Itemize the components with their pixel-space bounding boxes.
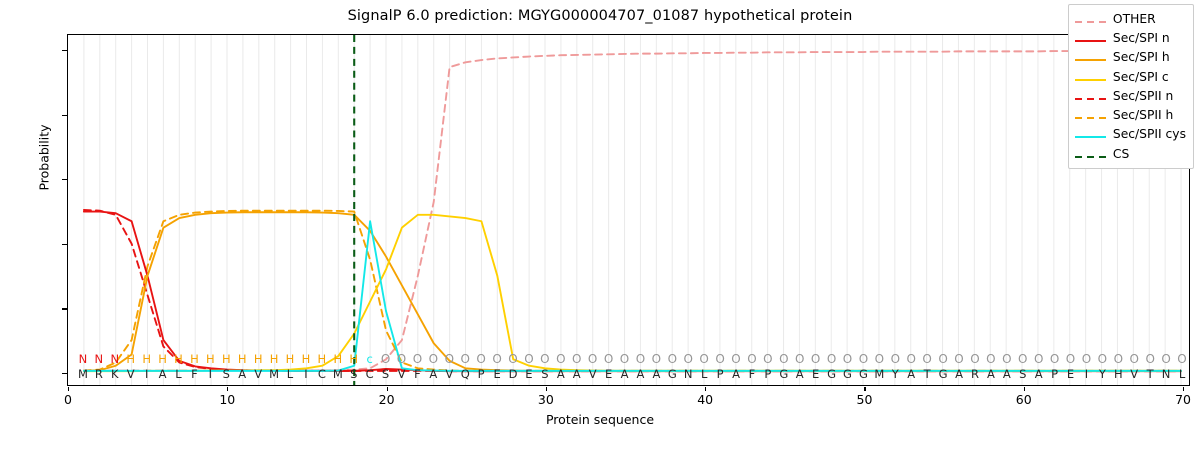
region-label-cell: O — [938, 352, 947, 367]
amino-acid-cell: A — [907, 367, 915, 382]
region-label-cell: O — [588, 352, 597, 367]
amino-acid-cell: Y — [1099, 367, 1106, 382]
amino-acid-cell: V — [445, 367, 453, 382]
legend-label: Sec/SPI n — [1113, 31, 1170, 45]
legend-item: OTHER — [1075, 9, 1186, 28]
region-label-cell: H — [126, 352, 135, 367]
amino-acid-cell: S — [350, 367, 357, 382]
region-label-cell: O — [779, 352, 788, 367]
legend-swatch — [1075, 13, 1106, 25]
region-label-cell: O — [668, 352, 677, 367]
series-sec-spii-n — [84, 210, 1181, 371]
region-label-cell: O — [604, 352, 613, 367]
region-label-cell: O — [970, 352, 979, 367]
amino-acid-cell: V — [127, 367, 135, 382]
legend-swatch — [1075, 90, 1106, 102]
amino-acid-cell: P — [717, 367, 724, 382]
amino-acid-cell: N — [684, 367, 693, 382]
amino-acid-cell: E — [812, 367, 819, 382]
x-axis-tick-label: 0 — [64, 392, 72, 407]
amino-acid-cell: E — [525, 367, 532, 382]
amino-acid-cell: G — [779, 367, 788, 382]
x-axis-tick-mark — [68, 387, 69, 391]
amino-acid-cell: F — [191, 367, 198, 382]
amino-acid-cell: A — [238, 367, 246, 382]
region-label-cell: H — [286, 352, 295, 367]
region-label-cell: c — [366, 352, 372, 367]
region-label-cell: O — [795, 352, 804, 367]
amino-acid-cell: M — [874, 367, 884, 382]
region-label-cell: H — [318, 352, 327, 367]
region-label-cell: O — [683, 352, 692, 367]
region-label-cell: O — [907, 352, 916, 367]
region-label-cell: H — [158, 352, 167, 367]
series-sec-spii-h — [84, 211, 1181, 371]
region-label-cell: O — [986, 352, 995, 367]
region-label-cell: O — [540, 352, 549, 367]
amino-acid-cell: L — [287, 367, 293, 382]
region-label-cell: O — [492, 352, 501, 367]
region-label-cell: O — [843, 352, 852, 367]
region-label-cell: O — [859, 352, 868, 367]
region-label-cell: O — [954, 352, 963, 367]
amino-acid-cell: I — [1085, 367, 1088, 382]
region-label-cell: O — [1050, 352, 1059, 367]
region-label-cell: O — [1130, 352, 1139, 367]
region-label-cell: O — [1066, 352, 1075, 367]
region-label-cell: O — [620, 352, 629, 367]
x-axis-tick-mark — [1183, 387, 1184, 391]
amino-acid-cell: P — [764, 367, 771, 382]
region-label-cell: H — [222, 352, 231, 367]
amino-acid-cell: D — [509, 367, 518, 382]
amino-acid-cell: S — [541, 367, 548, 382]
x-axis-tick-mark — [705, 387, 706, 391]
region-label-cell: H — [142, 352, 151, 367]
series-lines — [68, 35, 1189, 385]
region-label-cell: O — [636, 352, 645, 367]
x-axis-tick-label: 30 — [538, 392, 554, 407]
amino-acid-cell: F — [414, 367, 421, 382]
region-label-cell: O — [699, 352, 708, 367]
plot-area: 010203040506070 — [67, 34, 1190, 386]
amino-acid-cell: A — [621, 367, 629, 382]
series-sec-spi-n — [84, 212, 1181, 372]
amino-acid-cell: E — [1067, 367, 1074, 382]
region-label-cell: O — [922, 352, 931, 367]
region-label-cell: O — [1114, 352, 1123, 367]
legend-label: Sec/SPII cys — [1113, 127, 1186, 141]
region-label-cell: O — [652, 352, 661, 367]
legend-swatch — [1075, 128, 1106, 140]
legend-swatch — [1075, 51, 1106, 63]
region-label-cell: O — [763, 352, 772, 367]
y-axis-label: Probability — [37, 98, 52, 218]
amino-acid-cell: M — [333, 367, 343, 382]
amino-acid-cell: M — [269, 367, 279, 382]
legend-label: CS — [1113, 147, 1129, 161]
amino-acid-cell: A — [429, 367, 437, 382]
legend-swatch — [1075, 32, 1106, 44]
signalp-prediction-figure: SignalP 6.0 prediction: MGYG000004707_01… — [0, 0, 1200, 450]
legend-swatch — [1075, 109, 1106, 121]
amino-acid-cell: R — [971, 367, 979, 382]
amino-acid-cell: C — [318, 367, 326, 382]
region-label-cell: H — [254, 352, 263, 367]
amino-acid-cell: V — [254, 367, 262, 382]
amino-acid-cell: S — [1019, 367, 1026, 382]
amino-acid-cell: I — [145, 367, 148, 382]
amino-acid-cell: T — [924, 367, 931, 382]
region-label-cell: O — [413, 352, 422, 367]
amino-acid-cell: A — [1035, 367, 1043, 382]
x-axis-tick-label: 40 — [697, 392, 713, 407]
region-label-cell: O — [891, 352, 900, 367]
amino-acid-cell: L — [701, 367, 707, 382]
region-label-cell: O — [715, 352, 724, 367]
region-label-cell: O — [1034, 352, 1043, 367]
region-label-cell: O — [476, 352, 485, 367]
region-label-cell: O — [1177, 352, 1186, 367]
amino-acid-cell: A — [955, 367, 963, 382]
legend-item: CS — [1075, 144, 1186, 163]
amino-acid-cell: E — [493, 367, 500, 382]
region-label-cell: H — [238, 352, 247, 367]
x-axis-tick-label: 50 — [857, 392, 873, 407]
legend: OTHERSec/SPI nSec/SPI hSec/SPI cSec/SPII… — [1068, 4, 1194, 169]
region-label-cell: H — [349, 352, 358, 367]
amino-acid-cell: Y — [892, 367, 899, 382]
region-label-cell: O — [1145, 352, 1154, 367]
x-axis-tick-mark — [864, 387, 865, 391]
x-axis-tick-mark — [1024, 387, 1025, 391]
amino-acid-cell: A — [796, 367, 804, 382]
legend-swatch — [1075, 148, 1106, 160]
region-label-cell: O — [1161, 352, 1170, 367]
x-axis-tick-label: 10 — [219, 392, 235, 407]
series-sec-spi-h — [84, 212, 1181, 371]
amino-acid-cell: P — [478, 367, 485, 382]
region-label-cell: H — [174, 352, 183, 367]
amino-acid-cell: V — [398, 367, 406, 382]
region-label-cell: O — [1018, 352, 1027, 367]
region-label-cell: O — [747, 352, 756, 367]
region-label-cell: O — [397, 352, 406, 367]
region-label-cell: O — [811, 352, 820, 367]
amino-acid-cell: F — [749, 367, 756, 382]
region-label-cell: O — [827, 352, 836, 367]
region-label-cell: O — [572, 352, 581, 367]
region-label-cell: O — [1098, 352, 1107, 367]
region-label-cell: N — [110, 352, 119, 367]
x-axis-tick-label: 60 — [1016, 392, 1032, 407]
x-axis-tick-mark — [387, 387, 388, 391]
amino-acid-cell: S — [382, 367, 389, 382]
amino-acid-cell: C — [366, 367, 374, 382]
legend-item: Sec/SPII n — [1075, 86, 1186, 105]
amino-acid-cell: E — [605, 367, 612, 382]
amino-acid-cell: H — [1114, 367, 1123, 382]
amino-acid-cell: L — [1179, 367, 1185, 382]
region-label-cell: N — [79, 352, 88, 367]
amino-acid-cell: A — [637, 367, 645, 382]
region-annotation-row: NNNHHHHHHHHHHHHHHHcOOOOOOOOOOOOOOOOOOOOO… — [67, 352, 1190, 367]
amino-acid-cell: A — [652, 367, 660, 382]
amino-acid-cell: K — [111, 367, 119, 382]
x-axis-tick-label: 70 — [1175, 392, 1191, 407]
region-label-cell: O — [460, 352, 469, 367]
amino-acid-cell: A — [557, 367, 565, 382]
region-label-cell: H — [190, 352, 199, 367]
amino-acid-cell: T — [1147, 367, 1154, 382]
x-axis-tick-mark — [227, 387, 228, 391]
region-label-cell: N — [95, 352, 104, 367]
amino-acid-cell: V — [1130, 367, 1138, 382]
chart-title: SignalP 6.0 prediction: MGYG000004707_01… — [0, 8, 1200, 24]
legend-swatch — [1075, 71, 1106, 83]
amino-acid-cell: A — [159, 367, 167, 382]
series-sec-spii-cys — [84, 221, 1181, 371]
amino-acid-cell: G — [827, 367, 836, 382]
region-label-cell: O — [524, 352, 533, 367]
amino-acid-cell: G — [843, 367, 852, 382]
region-label-cell: O — [1002, 352, 1011, 367]
amino-acid-cell: M — [78, 367, 88, 382]
amino-acid-cell: R — [95, 367, 103, 382]
region-label-cell: O — [1082, 352, 1091, 367]
region-label-cell: O — [445, 352, 454, 367]
legend-label: OTHER — [1113, 12, 1156, 26]
legend-item: Sec/SPI c — [1075, 67, 1186, 86]
amino-acid-sequence-row: MRKVIALFISAVMLICMSCSVFAVQPEDESAAVEAAAGNL… — [67, 367, 1190, 382]
region-label-cell: O — [508, 352, 517, 367]
x-axis-tick-mark — [546, 387, 547, 391]
amino-acid-cell: L — [175, 367, 181, 382]
amino-acid-cell: G — [859, 367, 868, 382]
legend-item: Sec/SPI n — [1075, 28, 1186, 47]
region-label-cell: O — [731, 352, 740, 367]
legend-item: Sec/SPI h — [1075, 48, 1186, 67]
legend-label: Sec/SPII h — [1113, 108, 1173, 122]
series-sec-spi-c — [84, 215, 1181, 371]
legend-label: Sec/SPII n — [1113, 89, 1173, 103]
amino-acid-cell: A — [573, 367, 581, 382]
amino-acid-cell: V — [589, 367, 597, 382]
amino-acid-cell: P — [1051, 367, 1058, 382]
region-label-cell: O — [429, 352, 438, 367]
amino-acid-cell: A — [987, 367, 995, 382]
region-label-cell: O — [556, 352, 565, 367]
amino-acid-cell: I — [209, 367, 212, 382]
amino-acid-cell: A — [1003, 367, 1011, 382]
region-label-cell: H — [206, 352, 215, 367]
x-axis-tick-label: 20 — [379, 392, 395, 407]
region-label-cell: H — [302, 352, 311, 367]
region-label-cell: H — [333, 352, 342, 367]
legend-item: Sec/SPII h — [1075, 105, 1186, 124]
amino-acid-cell: A — [732, 367, 740, 382]
amino-acid-cell: G — [668, 367, 677, 382]
legend-label: Sec/SPI h — [1113, 50, 1170, 64]
amino-acid-cell: S — [223, 367, 230, 382]
amino-acid-cell: Q — [461, 367, 470, 382]
region-label-cell: H — [270, 352, 279, 367]
legend-item: Sec/SPII cys — [1075, 125, 1186, 144]
x-axis-label: Protein sequence — [0, 412, 1200, 427]
amino-acid-cell: I — [304, 367, 307, 382]
amino-acid-cell: N — [1162, 367, 1171, 382]
legend-label: Sec/SPI c — [1113, 70, 1169, 84]
amino-acid-cell: G — [939, 367, 948, 382]
region-label-cell: O — [875, 352, 884, 367]
region-label-cell: O — [381, 352, 390, 367]
